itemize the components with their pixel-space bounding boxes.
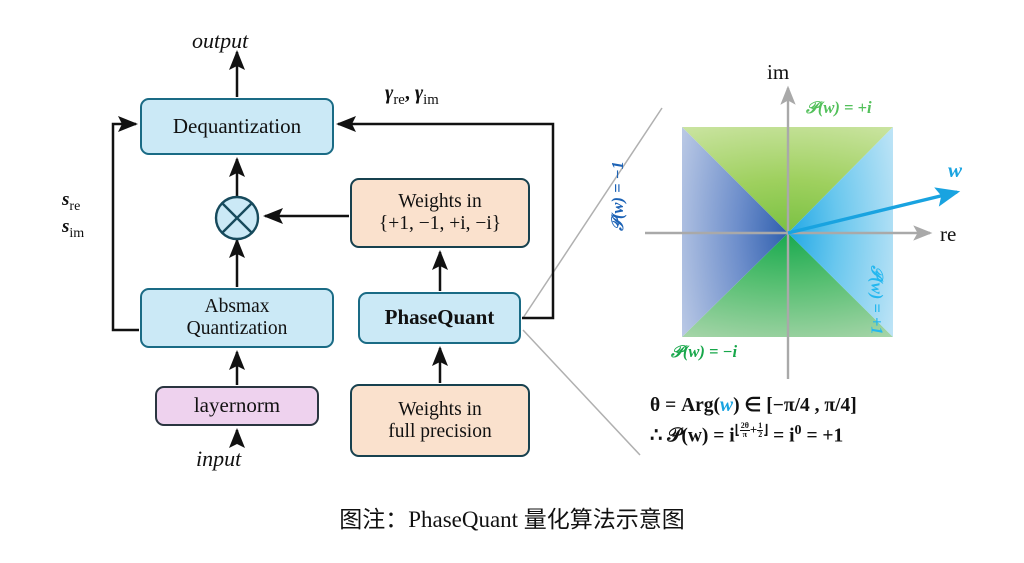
equals-plus-one: = +1 — [802, 426, 844, 447]
label-input: input — [196, 446, 241, 472]
weights-quantized-line-1: Weights in — [379, 191, 501, 213]
s-im-subscript: im — [69, 225, 84, 241]
axis-label-imaginary: im — [767, 60, 789, 85]
node-weights-quantized[interactable]: Weights in {+1, −1, +i, −i} — [350, 178, 530, 248]
label-gamma-scales: γre, γim — [385, 82, 439, 109]
multiply-operator-icon — [216, 197, 258, 239]
node-absmax-quantization-label: Absmax Quantization — [187, 296, 288, 340]
formula-theta-range: θ = Arg(w) ∈ [−π/4 , π/4] — [650, 392, 1010, 420]
exponent-zero: 0 — [795, 422, 802, 438]
node-layernorm[interactable]: layernorm — [155, 386, 319, 426]
label-scale-factors: sre sim — [62, 188, 84, 242]
node-layernorm-label: layernorm — [194, 394, 280, 418]
node-weights-full-precision-label: Weights in full precision — [388, 399, 491, 443]
region-label-plus-i: 𝒫(w) = +i — [806, 98, 872, 118]
formula-phase-quantizer: ∴ 𝒫(w) = i⌊2θπ+12⌋ = i0 = +1 — [650, 420, 1010, 451]
arg-weight-symbol: w — [720, 395, 733, 416]
region-label-plus-1: 𝒫(w) = +1 — [867, 265, 887, 334]
region-label-minus-i: 𝒫(w) = −i — [671, 342, 737, 362]
phase-function-lhs: 𝒫(w) = — [667, 426, 729, 447]
fraction-two-theta-over-pi: 2θπ — [740, 422, 750, 439]
node-dequantization[interactable]: Dequantization — [140, 98, 334, 155]
callout-lines — [523, 108, 662, 455]
gamma-re-subscript: re — [393, 92, 405, 108]
label-s-re: sre — [62, 188, 84, 215]
s-re-subscript: re — [69, 198, 80, 214]
weights-full-line-2: full precision — [388, 421, 491, 443]
figure-canvas: Dequantization Absmax Quantization layer… — [0, 0, 1024, 563]
region-label-minus-1: 𝒫(w) = −1 — [608, 161, 628, 231]
therefore-symbol: ∴ — [650, 426, 667, 447]
gamma-im-subscript: im — [423, 92, 439, 108]
node-weights-full-precision[interactable]: Weights in full precision — [350, 384, 530, 457]
theta-interval: ) ∈ [−π/4 , π/4] — [733, 395, 857, 416]
node-phasequant-label: PhaseQuant — [385, 306, 495, 330]
plus-sign: + — [750, 423, 757, 437]
figure-caption: 图注：PhaseQuant 量化算法示意图 — [0, 500, 1024, 534]
fraction-denominator: π — [740, 431, 750, 439]
formula-block: θ = Arg(w) ∈ [−π/4 , π/4] ∴ 𝒫(w) = i⌊2θπ… — [650, 392, 1010, 451]
exponent-group: ⌊2θπ+12⌋ — [735, 423, 769, 437]
label-weight-vector: w — [948, 158, 962, 183]
axis-label-real: re — [940, 222, 956, 247]
weights-quantized-line-2: {+1, −1, +i, −i} — [379, 213, 501, 235]
arg-function: Arg( — [681, 395, 720, 416]
theta-equals: = — [660, 395, 681, 416]
gamma-im-symbol: γ — [415, 82, 423, 104]
node-dequantization-label: Dequantization — [173, 115, 301, 139]
absmax-line-1: Absmax — [187, 296, 288, 318]
node-absmax-quantization[interactable]: Absmax Quantization — [140, 288, 334, 348]
node-weights-quantized-label: Weights in {+1, −1, +i, −i} — [379, 191, 501, 235]
node-phasequant[interactable]: PhaseQuant — [358, 292, 521, 344]
weights-full-line-1: Weights in — [388, 399, 491, 421]
label-s-im: sim — [62, 215, 84, 242]
theta-symbol: θ — [650, 395, 660, 416]
label-output: output — [192, 28, 248, 54]
gamma-separator: , — [405, 82, 415, 104]
equals-one: = — [768, 426, 789, 447]
absmax-line-2: Quantization — [187, 318, 288, 340]
